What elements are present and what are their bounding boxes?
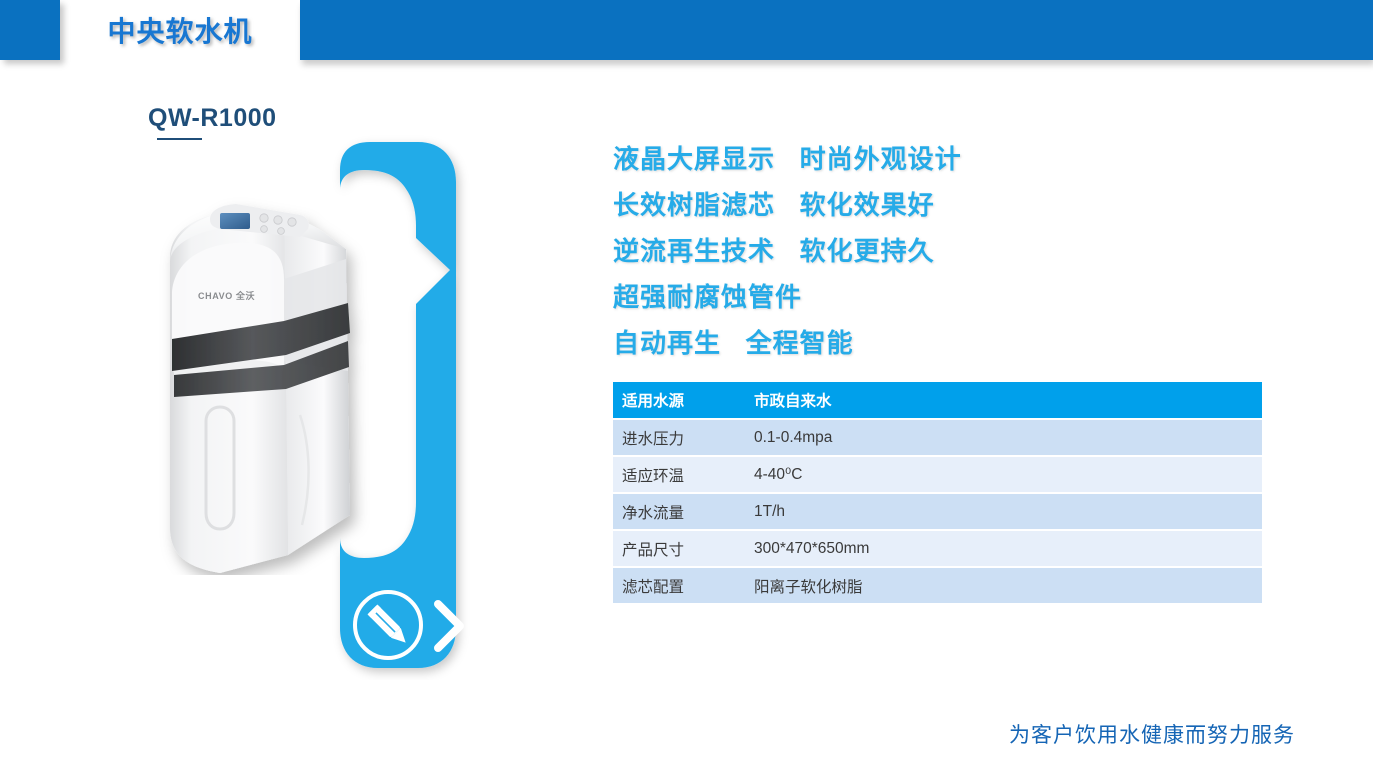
model-name-underline bbox=[157, 138, 202, 140]
header-accent-block-left bbox=[0, 0, 60, 60]
feature-line: 自动再生 全程智能 bbox=[613, 320, 1273, 366]
table-row: 进水压力 0.1-0.4mpa bbox=[613, 420, 1262, 455]
feature-line: 超强耐腐蚀管件 bbox=[613, 274, 1273, 320]
product-brand-logo: CHAVO 全沃 bbox=[198, 290, 255, 301]
table-cell-value: 1T/h bbox=[754, 494, 1262, 529]
table-row: 滤芯配置 阳离子软化树脂 bbox=[613, 568, 1262, 603]
table-cell-value: 阳离子软化树脂 bbox=[754, 568, 1262, 603]
slide-canvas: 中央软水机 QW-R1000 bbox=[0, 0, 1373, 775]
header-accent-block-right bbox=[300, 0, 1373, 60]
table-header-value: 市政自来水 bbox=[754, 382, 1262, 418]
table-cell-key: 产品尺寸 bbox=[613, 531, 754, 566]
table-cell-key: 滤芯配置 bbox=[613, 568, 754, 603]
table-row: 适应环温 4-40⁰C bbox=[613, 457, 1262, 492]
table-row: 产品尺寸 300*470*650mm bbox=[613, 531, 1262, 566]
feature-line: 液晶大屏显示 时尚外观设计 bbox=[613, 136, 1273, 182]
feature-line: 逆流再生技术 软化更持久 bbox=[613, 228, 1273, 274]
table-cell-value: 0.1-0.4mpa bbox=[754, 420, 1262, 455]
table-cell-key: 净水流量 bbox=[613, 494, 754, 529]
table-cell-value: 4-40⁰C bbox=[754, 457, 1262, 492]
table-cell-value: 300*470*650mm bbox=[754, 531, 1262, 566]
feature-line: 长效树脂滤芯 软化效果好 bbox=[613, 182, 1273, 228]
product-image: CHAVO 全沃 bbox=[150, 175, 380, 575]
footer-tagline: 为客户饮用水健康而努力服务 bbox=[1009, 719, 1295, 749]
table-cell-key: 适应环温 bbox=[613, 457, 754, 492]
table-header-row: 适用水源 市政自来水 bbox=[613, 382, 1262, 418]
specification-table: 适用水源 市政自来水 进水压力 0.1-0.4mpa 适应环温 4-40⁰C 净… bbox=[613, 380, 1262, 605]
table-row: 净水流量 1T/h bbox=[613, 494, 1262, 529]
product-model-name: QW-R1000 bbox=[148, 104, 277, 133]
table-cell-key: 进水压力 bbox=[613, 420, 754, 455]
lcd-display bbox=[220, 213, 250, 229]
feature-list: 液晶大屏显示 时尚外观设计 长效树脂滤芯 软化效果好 逆流再生技术 软化更持久 … bbox=[613, 136, 1273, 366]
table-header-key: 适用水源 bbox=[613, 382, 754, 418]
page-title: 中央软水机 bbox=[60, 0, 300, 60]
